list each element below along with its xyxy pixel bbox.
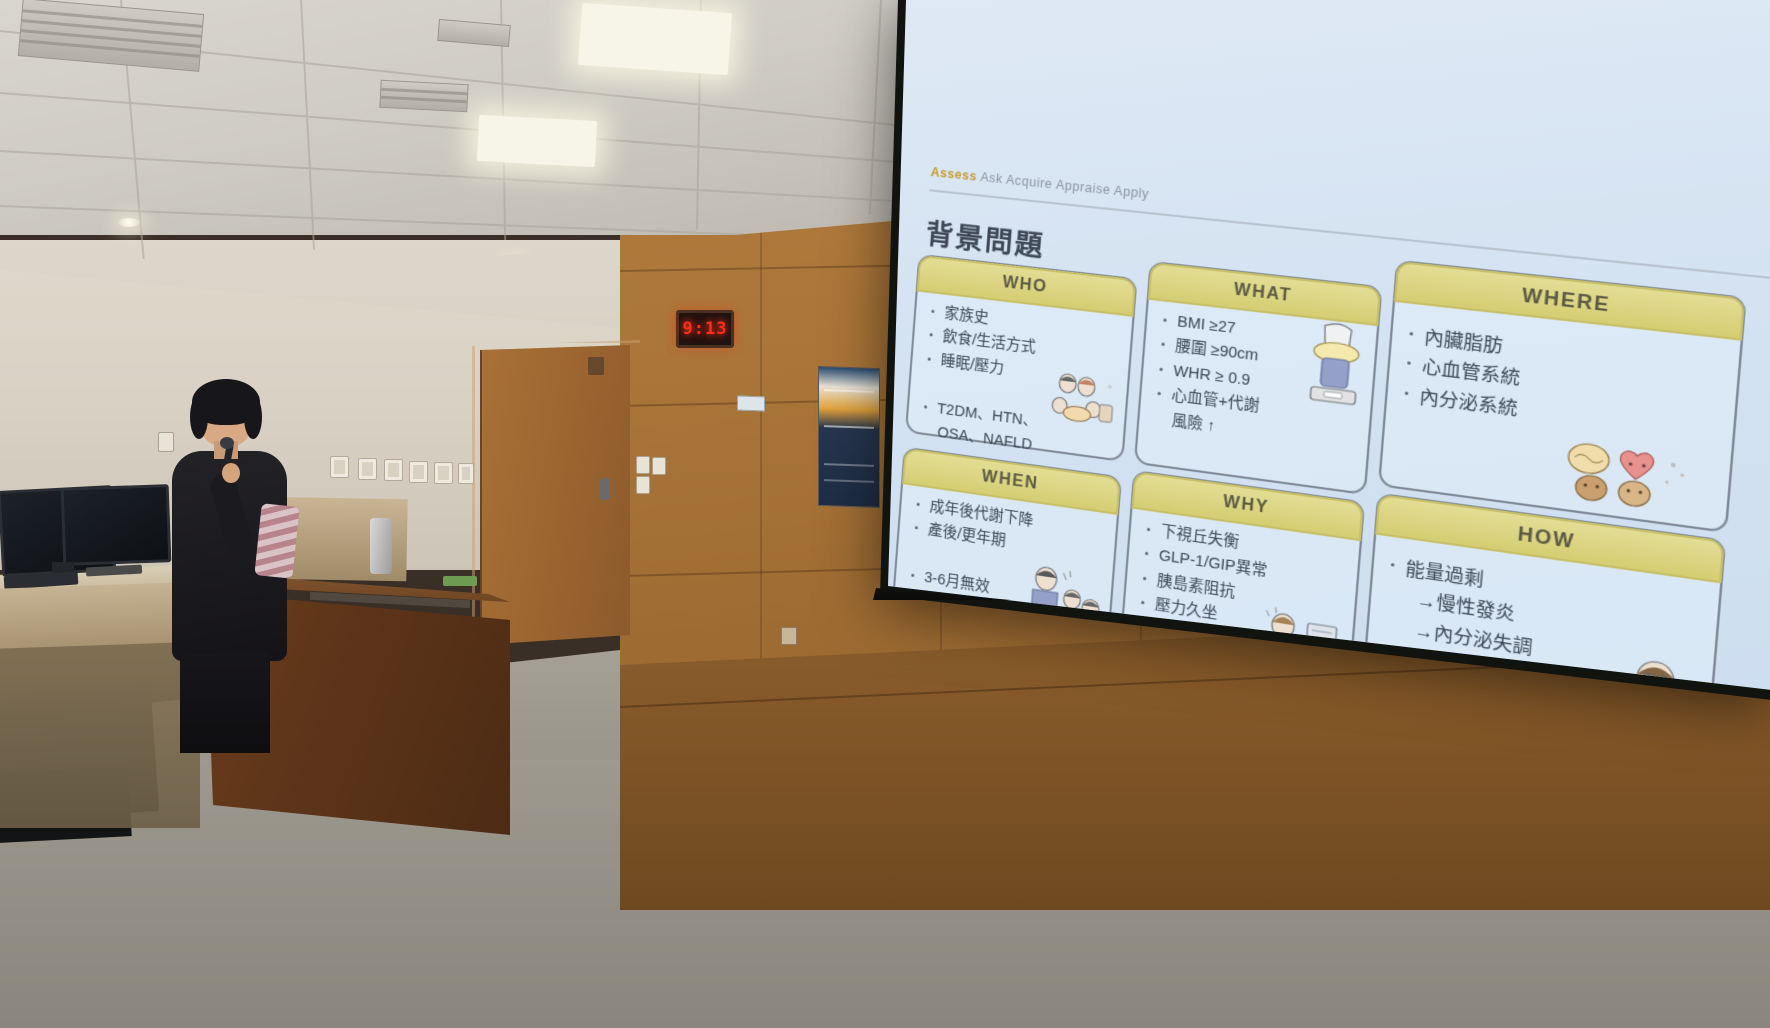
aaaaa-eyebrow: Assess Ask Acquire Appraise Apply bbox=[930, 165, 1149, 202]
card-who: WHO 家族史 飲食/生活方式 睡眠/壓力 T2DM、HTN、 OSA、NAFL… bbox=[905, 254, 1138, 462]
wall-outlet[interactable] bbox=[652, 457, 666, 475]
door-handle[interactable] bbox=[600, 478, 610, 500]
led-wall-clock: 9:13 bbox=[676, 310, 734, 348]
light-switch[interactable] bbox=[384, 459, 403, 481]
projection-screen: 5 Assess Ask Acquire Appraise Apply 背景問題… bbox=[872, 0, 1770, 700]
computer-monitor bbox=[61, 484, 172, 566]
screenshot-root: 9:13 bbox=[0, 0, 1770, 1028]
light-switch[interactable] bbox=[358, 458, 377, 480]
thermos bbox=[370, 518, 392, 574]
light-switch[interactable] bbox=[409, 461, 428, 483]
clock-time: 9:13 bbox=[683, 319, 728, 339]
presenter bbox=[170, 385, 290, 745]
card-where-list: 內臟脂肪 心血管系統 內分泌系統 bbox=[1400, 322, 1724, 449]
ceiling-vent bbox=[379, 80, 468, 113]
wall-sign bbox=[737, 396, 765, 412]
ceiling bbox=[0, 0, 1000, 235]
ceiling-light-panel bbox=[477, 115, 597, 167]
waist-measure-scale-icon bbox=[1298, 317, 1372, 415]
eyebrow-highlight: Assess bbox=[930, 165, 977, 184]
green-object bbox=[443, 576, 477, 586]
light-switch[interactable] bbox=[434, 462, 453, 484]
wall-outlet[interactable] bbox=[636, 456, 650, 474]
screen-surface: 5 Assess Ask Acquire Appraise Apply 背景問題… bbox=[872, 0, 1770, 700]
wall-plate bbox=[781, 627, 797, 645]
wall-outlet[interactable] bbox=[636, 476, 650, 494]
light-switch[interactable] bbox=[330, 456, 349, 478]
wall-poster bbox=[818, 366, 880, 508]
striped-bag bbox=[254, 503, 299, 579]
card-why: WHY 下視丘失衡 GLP-1/GIP異常 胰島素阻抗 壓力久坐 bbox=[1120, 470, 1366, 682]
card-what: WHAT BMI ≥27 腰圍 ≥90cm WHR ≥ 0.9 心血管+代謝 風… bbox=[1134, 261, 1383, 495]
ceiling-light-panel bbox=[578, 3, 732, 75]
family-eating-icon bbox=[1044, 366, 1122, 429]
downlight bbox=[118, 218, 140, 227]
card-where: WHERE 內臟脂肪 心血管系統 內分泌系統 bbox=[1378, 260, 1747, 534]
light-switch[interactable] bbox=[458, 463, 474, 484]
worried-people-icon bbox=[1020, 559, 1108, 632]
